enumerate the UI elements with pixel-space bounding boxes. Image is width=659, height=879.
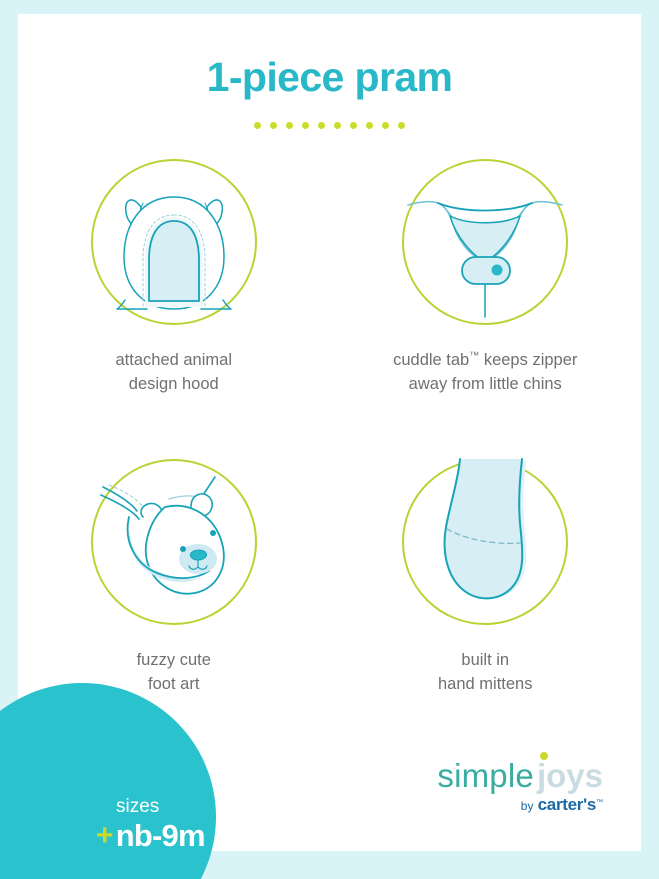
caption-line-2: design hood [129,375,219,393]
feature-caption-foot-art: fuzzy cute foot art [137,649,211,697]
brand-logo-primary: simplejoys [437,759,603,792]
sizes-label: sizes [116,797,205,816]
divider-dot [350,122,357,129]
divider-dot [254,122,261,129]
brand-word-simple: simple [437,757,534,794]
divider-dot [382,122,389,129]
caption-line-1-rest: keeps zipper [479,351,577,369]
feature-item-hood: attached animal design hood [18,159,330,459]
divider-dot [318,122,325,129]
brand-logo-secondary: by carter's™ [437,796,603,813]
caption-line-1: cuddle tab [393,351,469,369]
brand-by-text: by [521,799,534,813]
feature-caption-mittens: built in hand mittens [438,649,532,697]
divider-dot [398,122,405,129]
brand-word-joys-text: joys [537,757,603,794]
caption-line-2: away from little chins [409,375,562,393]
caption-line-1: fuzzy cute [137,651,211,669]
sizes-range: +nb-9m [96,820,205,851]
cuddle-tab-zipper-icon [402,159,568,325]
hand-mittens-icon [402,459,568,625]
trademark-symbol: ™ [469,351,479,362]
brand-word-joys: joys [537,757,603,794]
decorative-dot-divider [18,122,641,129]
caption-line-2: hand mittens [438,675,532,693]
caption-line-2: foot art [148,675,199,693]
feature-caption-hood: attached animal design hood [116,349,233,397]
divider-dot [270,122,277,129]
divider-dot [302,122,309,129]
feature-caption-cuddle-tab: cuddle tab™ keeps zipper away from littl… [393,349,577,397]
fuzzy-foot-art-icon [91,459,257,625]
caption-line-1: attached animal [116,351,233,369]
feature-grid: attached animal design hood [18,159,641,759]
sizes-badge-text: sizes +nb-9m [96,797,205,851]
feature-item-cuddle-tab: cuddle tab™ keeps zipper away from littl… [330,159,642,459]
sizes-plus-icon: + [96,821,113,851]
brand-carters-text: carter's [538,795,596,814]
divider-dot [286,122,293,129]
infographic-poster: 1-piece pram [0,0,659,879]
brand-trademark-symbol: ™ [596,799,603,806]
brand-logo: simplejoys by carter's™ [437,759,603,813]
attached-animal-hood-icon [91,159,257,325]
caption-line-1: built in [461,651,509,669]
page-title: 1-piece pram [18,54,641,101]
divider-dot [334,122,341,129]
sizes-range-value: nb-9m [116,820,205,851]
feature-item-mittens: built in hand mittens [330,459,642,759]
joys-dot-icon [540,752,548,760]
divider-dot [366,122,373,129]
